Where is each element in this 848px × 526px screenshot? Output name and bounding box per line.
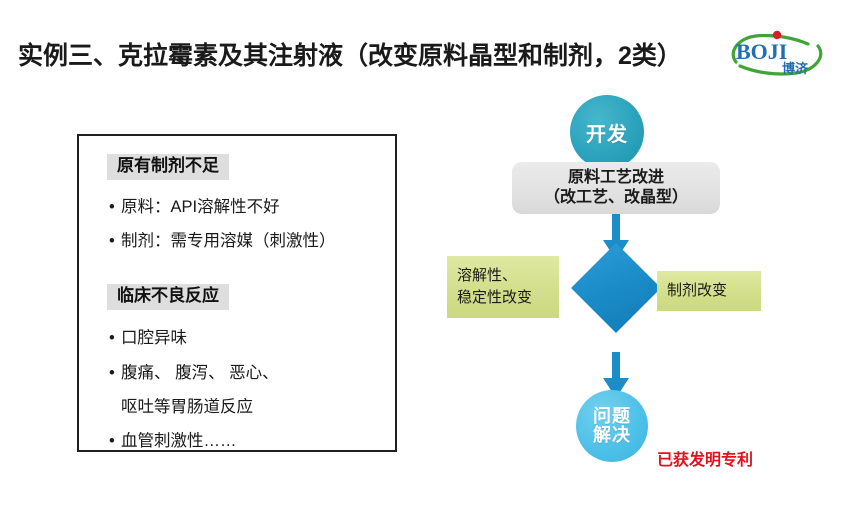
logo-graphic: BOJI 博济 bbox=[722, 28, 830, 82]
bullet-marker: • bbox=[109, 364, 121, 382]
bullet-marker: • bbox=[109, 432, 121, 450]
list-item: •口腔异味 bbox=[109, 329, 187, 347]
callout-solubility-line1: 溶解性、 bbox=[457, 265, 549, 287]
list-item: •血管刺激性…… bbox=[109, 432, 237, 450]
flow-node-solved-line1: 问题 bbox=[593, 407, 631, 426]
bullet-marker: • bbox=[109, 232, 121, 250]
flow-node-development[interactable]: 开发 bbox=[570, 95, 644, 169]
bullet-marker: • bbox=[109, 329, 121, 347]
list-item: •腹痛、 腹泻、 恶心、 bbox=[109, 364, 279, 382]
flow-node-solved-line2: 解决 bbox=[593, 426, 631, 445]
logo-dot-icon bbox=[773, 31, 781, 39]
callout-formulation-change: 制剂改变 bbox=[657, 271, 761, 311]
bullet-marker: • bbox=[109, 198, 121, 216]
boji-logo: BOJI 博济 bbox=[722, 28, 830, 82]
section-header-clinical-adverse-reactions: 临床不良反应 bbox=[107, 284, 229, 310]
callout-solubility-stability: 溶解性、 稳定性改变 bbox=[447, 256, 559, 318]
list-item-text: 腹痛、 腹泻、 恶心、 bbox=[121, 364, 279, 382]
flow-node-process-line1: 原料工艺改进 bbox=[568, 168, 664, 188]
logo-chinese-name: 博济 bbox=[782, 61, 809, 76]
flow-node-problem-solved[interactable]: 问题 解决 bbox=[576, 390, 648, 462]
list-item-text: 呕吐等胃肠道反应 bbox=[121, 398, 253, 416]
page-title: 实例三、克拉霉素及其注射液（改变原料晶型和制剂，2类） bbox=[18, 36, 698, 72]
list-item-text: 制剂：需专用溶媒（刺激性） bbox=[121, 232, 336, 250]
list-item-text: 原料：API溶解性不好 bbox=[121, 198, 280, 216]
callout-formulation-line1: 制剂改变 bbox=[667, 280, 751, 302]
list-item-text: 血管刺激性…… bbox=[121, 432, 237, 450]
list-item-text: 口腔异味 bbox=[121, 329, 187, 347]
flow-node-process-line2: （改工艺、改晶型） bbox=[544, 188, 688, 208]
logo-wordmark: BOJI bbox=[736, 39, 787, 64]
flow-node-development-label: 开发 bbox=[586, 118, 628, 147]
process-flowchart: 开发 原料工艺改进 （改工艺、改晶型） bbox=[420, 90, 830, 490]
flow-node-process-improvement[interactable]: 原料工艺改进 （改工艺、改晶型） bbox=[512, 162, 720, 214]
flow-node-decision[interactable] bbox=[570, 242, 662, 334]
problems-panel: 原有制剂不足 •原料：API溶解性不好 •制剂：需专用溶媒（刺激性） 临床不良反… bbox=[77, 134, 397, 452]
slide-canvas: 实例三、克拉霉素及其注射液（改变原料晶型和制剂，2类） BOJI 博济 原有制剂… bbox=[0, 0, 848, 526]
list-item: •制剂：需专用溶媒（刺激性） bbox=[109, 232, 336, 250]
patent-granted-note: 已获发明专利 bbox=[657, 446, 753, 470]
callout-solubility-line2: 稳定性改变 bbox=[457, 287, 549, 309]
section-header-existing-formulation-issues: 原有制剂不足 bbox=[107, 154, 229, 180]
list-item: •原料：API溶解性不好 bbox=[109, 198, 280, 216]
list-item-continuation: 呕吐等胃肠道反应 bbox=[109, 398, 253, 416]
